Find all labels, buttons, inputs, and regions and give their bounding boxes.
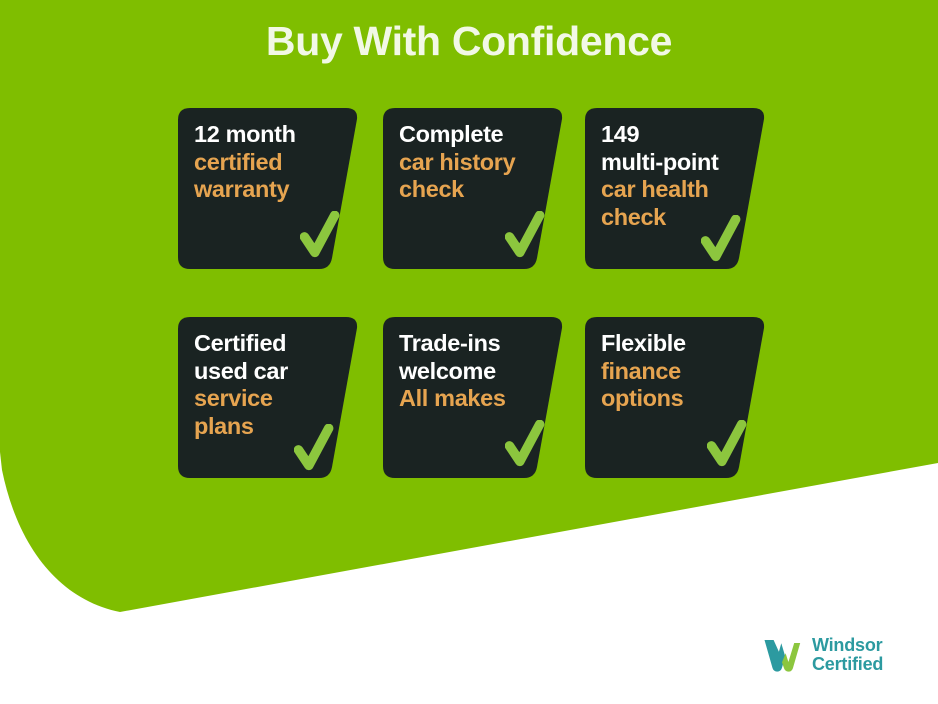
feature-card-service-plans: Certifiedused carserviceplans [178, 317, 358, 478]
card-line-1: multi-point [601, 149, 751, 177]
card-line-0: 149 [601, 121, 751, 149]
card-line-2: options [601, 385, 751, 413]
windsor-certified-logo: Windsor Certified [761, 631, 933, 679]
card-line-2: All makes [399, 385, 549, 413]
feature-card-multi-point-health-check: 149multi-pointcar healthcheck [585, 108, 765, 269]
card-line-2: check [399, 176, 549, 204]
card-line-0: Complete [399, 121, 549, 149]
windsor-w-icon [761, 635, 803, 675]
logo-line-1: Windsor [812, 636, 883, 655]
card-text-block: Certifiedused carserviceplans [194, 330, 344, 440]
page-title: Buy With Confidence [0, 18, 938, 65]
logo-line-2: Certified [812, 655, 883, 674]
card-line-0: Certified [194, 330, 344, 358]
card-line-0: Trade-ins [399, 330, 549, 358]
card-line-1: finance [601, 358, 751, 386]
card-line-0: Flexible [601, 330, 751, 358]
card-line-1: welcome [399, 358, 549, 386]
card-line-1: certified [194, 149, 344, 177]
card-text-block: Flexiblefinanceoptions [601, 330, 751, 413]
card-text-block: Completecar historycheck [399, 121, 549, 204]
card-line-2: warranty [194, 176, 344, 204]
card-line-2: service [194, 385, 344, 413]
card-text-block: 149multi-pointcar healthcheck [601, 121, 751, 231]
card-line-3: check [601, 204, 751, 232]
poster-canvas: Buy With Confidence 12 monthcertifiedwar… [0, 0, 938, 704]
card-line-3: plans [194, 413, 344, 441]
logo-wordmark: Windsor Certified [812, 636, 883, 674]
card-line-2: car health [601, 176, 751, 204]
card-line-1: car history [399, 149, 549, 177]
feature-card-trade-ins-welcome: Trade-inswelcomeAll makes [383, 317, 563, 478]
feature-card-flexible-finance: Flexiblefinanceoptions [585, 317, 765, 478]
card-line-1: used car [194, 358, 344, 386]
card-line-0: 12 month [194, 121, 344, 149]
feature-card-certified-warranty: 12 monthcertifiedwarranty [178, 108, 358, 269]
card-text-block: 12 monthcertifiedwarranty [194, 121, 344, 204]
card-text-block: Trade-inswelcomeAll makes [399, 330, 549, 413]
feature-card-grid: 12 monthcertifiedwarrantyCompletecar his… [178, 108, 762, 478]
feature-card-car-history-check: Completecar historycheck [383, 108, 563, 269]
